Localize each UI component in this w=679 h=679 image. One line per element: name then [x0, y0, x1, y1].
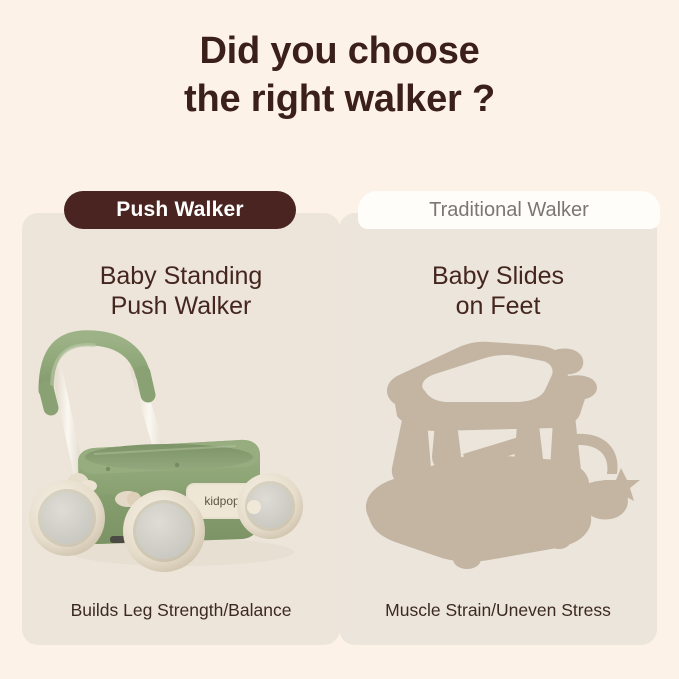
card-traditional-walker: Baby Slides on Feet	[339, 213, 657, 645]
walker-silhouette-shape	[366, 342, 640, 569]
wheel-rear-right	[237, 473, 303, 539]
tab-push-walker-label: Push Walker	[116, 198, 243, 222]
traditional-walker-illustration	[339, 328, 657, 578]
card-push-walker-title-line-1: Baby Standing	[100, 262, 263, 290]
comparison-column-traditional-walker: Traditional Walker Baby Slides on Feet	[339, 191, 657, 646]
tab-traditional-walker[interactable]: Traditional Walker	[358, 191, 660, 229]
wheel-front-left	[123, 490, 205, 572]
card-traditional-walker-title: Baby Slides on Feet	[339, 261, 657, 321]
traditional-walker-silhouette-svg	[339, 328, 657, 578]
page-title-line-1: Did you choose	[199, 30, 479, 72]
tab-push-walker[interactable]: Push Walker	[64, 191, 296, 229]
tab-traditional-walker-label: Traditional Walker	[429, 199, 589, 222]
card-push-walker: Baby Standing Push Walker	[22, 213, 340, 645]
page-title: Did you choose the right walker ?	[0, 28, 679, 123]
card-push-walker-caption: Builds Leg Strength/Balance	[22, 600, 340, 621]
wheel-rear-left	[29, 480, 105, 556]
card-push-walker-title: Baby Standing Push Walker	[22, 261, 340, 321]
page-title-line-2: the right walker ?	[0, 76, 679, 124]
card-traditional-walker-title-line-1: Baby Slides	[432, 262, 564, 290]
push-walker-illustration: kidpop	[22, 328, 340, 578]
card-traditional-walker-caption: Muscle Strain/Uneven Stress	[339, 600, 657, 621]
push-walker-svg: kidpop	[22, 328, 340, 578]
comparison-column-push-walker: Push Walker Baby Standing Push Walker	[22, 191, 340, 646]
card-traditional-walker-title-line-2: on Feet	[339, 291, 657, 321]
comparison-section: Push Walker Baby Standing Push Walker	[0, 191, 679, 661]
card-push-walker-title-line-2: Push Walker	[22, 291, 340, 321]
product-brand-label: kidpop	[204, 494, 240, 508]
